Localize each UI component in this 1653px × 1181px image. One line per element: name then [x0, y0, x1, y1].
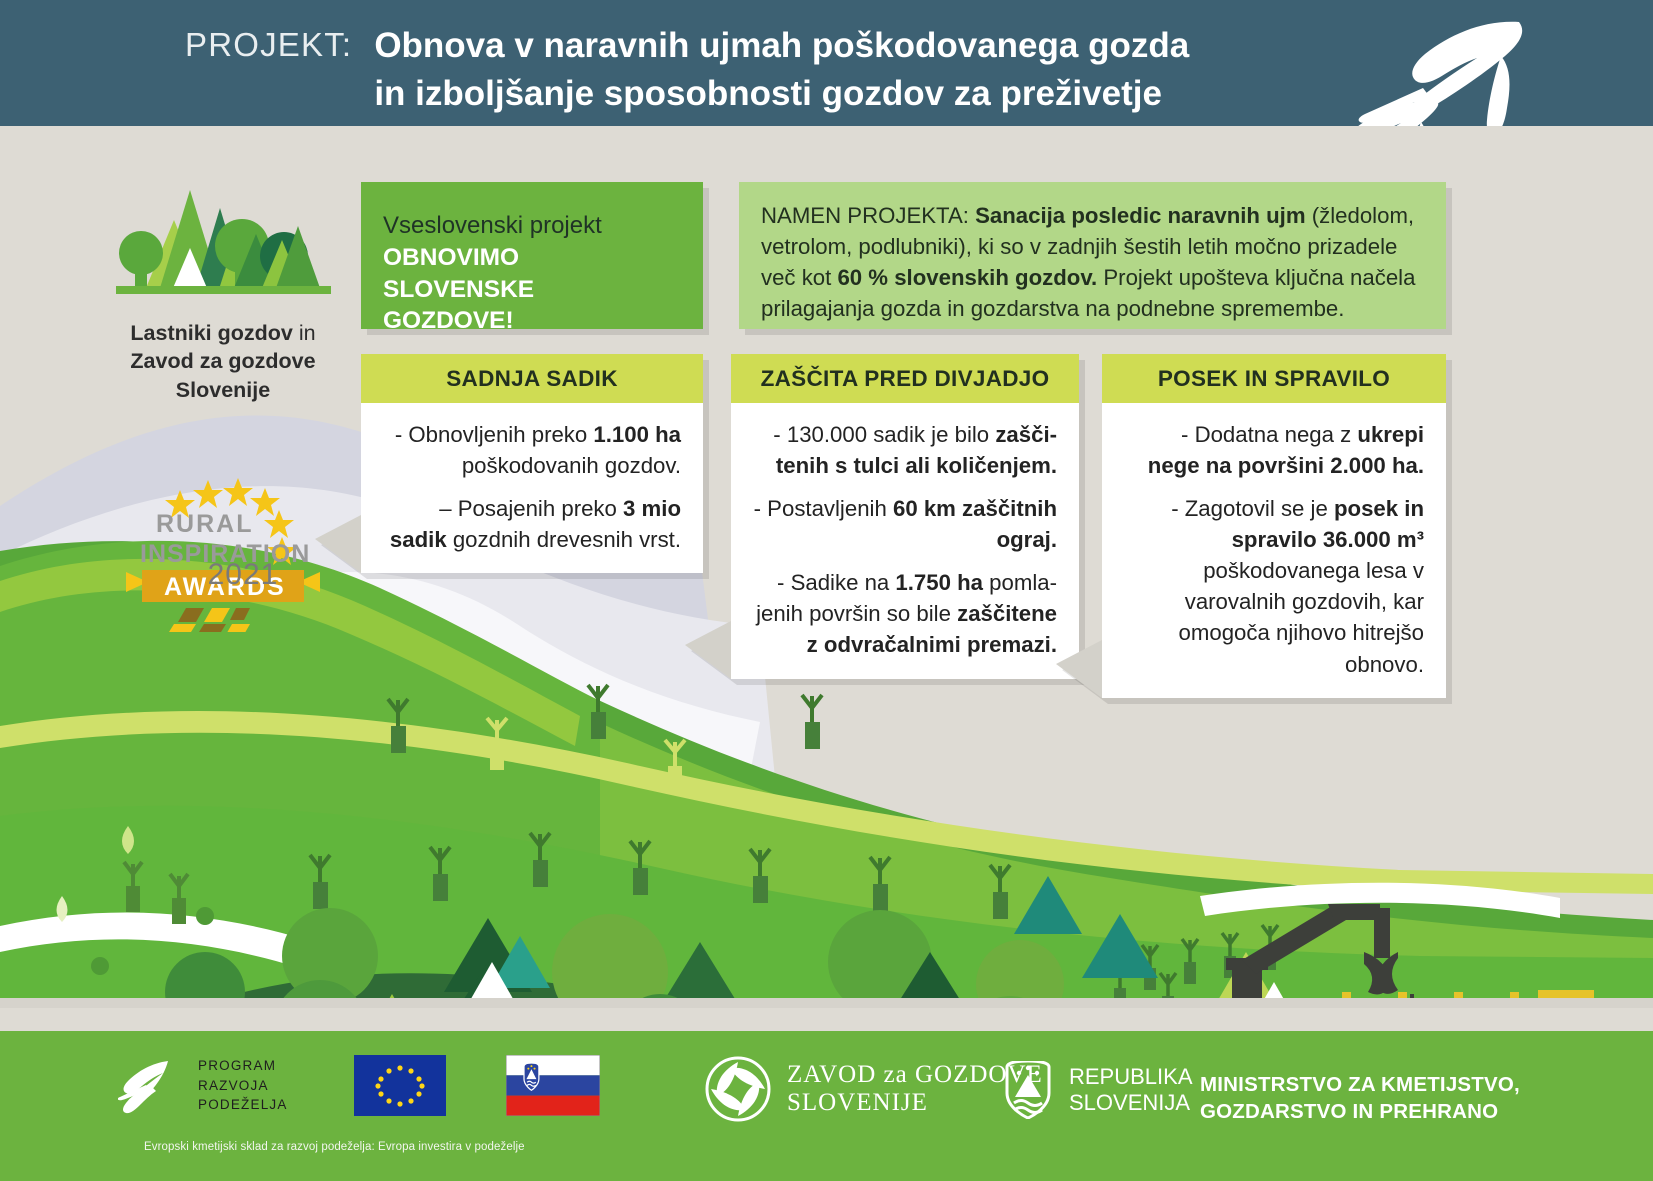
footer-bar: PROGRAM RAZVOJA PODEŽELJA	[0, 1031, 1653, 1181]
zgs-logo-block: ZAVOD za GOZDOVE SLOVENIJE	[705, 1056, 1043, 1122]
purpose-prefix: NAMEN PROJEKTA:	[761, 203, 975, 228]
callout-item: - Sadike na 1.750 ha pomla-jenih površin…	[753, 567, 1057, 660]
project-name-line2: OBNOVIMO SLOVENSKE	[383, 242, 677, 306]
item-pre: - Dodatna nega z	[1181, 422, 1357, 447]
infographic-page: PROJEKT: Obnova v naravnih ujmah poškodo…	[0, 0, 1653, 1181]
purpose-bold-1: Sanacija posledic naravnih ujm	[975, 203, 1305, 228]
owner-line2: Zavod za gozdove	[130, 349, 315, 373]
projekt-label: PROJEKT:	[185, 22, 352, 64]
callout-body: - 130.000 sadik je bilo zašči-tenih s tu…	[731, 403, 1079, 679]
callout-tail	[685, 621, 731, 679]
callout-item: - 130.000 sadik je bilo zašči-tenih s tu…	[753, 419, 1057, 481]
project-name-box: Vseslovenski projekt OBNOVIMO SLOVENSKE …	[361, 182, 703, 329]
prp-logo-block: PROGRAM RAZVOJA PODEŽELJA	[118, 1055, 600, 1116]
project-purpose-box: NAMEN PROJEKTA: Sanacija posledic naravn…	[739, 182, 1446, 329]
ministry-text: MINISTRSTVO ZA KMETIJSTVO, GOZDARSTVO IN…	[1200, 1071, 1520, 1125]
item-bold: 60 km zaščitnih ograj.	[893, 496, 1057, 552]
callout-item: - Obnovljenih preko 1.100 ha poškodovani…	[383, 419, 681, 481]
owner-conj: in	[293, 321, 316, 345]
rs-line1: REPUBLIKA	[1069, 1064, 1193, 1090]
callout-sadnja-sadik: SADNJA SADIK - Obnovljenih preko 1.100 h…	[361, 354, 703, 573]
callout-tail	[1056, 640, 1102, 698]
swallows-icon	[1305, 4, 1535, 126]
page-title-line2: in izboljšanje sposobnosti gozdov za pre…	[374, 70, 1189, 118]
callout-title: SADNJA SADIK	[361, 354, 703, 403]
callout-zascita-pred-divjadjo: ZAŠČITA PRED DIVJADJO - 130.000 sadik je…	[731, 354, 1079, 679]
callout-item: - Zagotovil se je posek in spravilo 36.0…	[1124, 493, 1424, 679]
prp-text: PROGRAM RAZVOJA PODEŽELJA	[198, 1056, 288, 1115]
item-bold: 1.750 ha	[895, 570, 983, 595]
forest-trees-icon	[88, 168, 358, 303]
rs-line2: SLOVENIJA	[1069, 1090, 1193, 1116]
callout-item: – Posajenih preko 3 mio sadik gozdnih dr…	[383, 493, 681, 555]
callout-posek-in-spravilo: POSEK IN SPRAVILO - Dodatna nega z ukrep…	[1102, 354, 1446, 698]
eu-flag-icon	[354, 1055, 446, 1116]
callout-body: - Obnovljenih preko 1.100 ha poškodovani…	[361, 403, 703, 573]
prp-line1: PROGRAM	[198, 1056, 288, 1076]
slovenia-coat-of-arms-icon	[1005, 1061, 1051, 1119]
owner-text: Lastniki gozdov in Zavod za gozdove Slov…	[88, 319, 358, 404]
callout-tail	[315, 515, 361, 573]
eu-disclaimer: Evropski kmetijski sklad za razvoj podež…	[144, 1141, 525, 1153]
item-pre: - Zagotovil se je	[1171, 496, 1334, 521]
item-post: poškodovanega lesa v varovalnih gozdovih…	[1179, 558, 1424, 676]
callout-title: POSEK IN SPRAVILO	[1102, 354, 1446, 403]
item-bold: 1.100 ha	[593, 422, 681, 447]
item-pre: - Obnovljenih preko	[395, 422, 594, 447]
owner-line3: Slovenije	[176, 378, 270, 402]
purpose-bold-2: 60 % slovenskih gozdov.	[837, 265, 1097, 290]
ministry-line2: GOZDARSTVO IN PREHRANO	[1200, 1098, 1520, 1125]
prp-swallow-icon	[118, 1057, 170, 1115]
owner-bold: Lastniki gozdov	[130, 321, 292, 345]
slovenia-flag-icon	[506, 1055, 600, 1116]
callout-body: - Dodatna nega z ukrepi nege na površini…	[1102, 403, 1446, 698]
zgs-leaf-icon	[705, 1056, 771, 1122]
prp-line2: RAZVOJA	[198, 1076, 288, 1096]
header-bar: PROJEKT: Obnova v naravnih ujmah poškodo…	[0, 0, 1653, 126]
prp-line3: PODEŽELJA	[198, 1095, 288, 1115]
svg-text:RURAL: RURAL	[156, 510, 254, 538]
rs-text: REPUBLIKA SLOVENIJA	[1069, 1064, 1193, 1116]
item-pre: – Posajenih preko	[439, 496, 623, 521]
project-name-line1: Vseslovenski projekt	[383, 210, 677, 242]
project-name-line3: GOZDOVE!	[383, 305, 677, 337]
page-title-line1: Obnova v naravnih ujmah poškodovanega go…	[374, 22, 1189, 70]
ministry-line1: MINISTRSTVO ZA KMETIJSTVO,	[1200, 1071, 1520, 1098]
callout-item: - Dodatna nega z ukrepi nege na površini…	[1124, 419, 1424, 481]
republic-slovenia-block: REPUBLIKA SLOVENIJA	[1005, 1061, 1193, 1119]
callout-item: - Postavljenih 60 km zaščitnih ograj.	[753, 493, 1057, 555]
item-pre: - Postavljenih	[754, 496, 893, 521]
item-post: poškodovanih gozdov.	[462, 453, 681, 478]
item-post: gozdnih drevesnih vrst.	[447, 527, 681, 552]
item-pre: - 130.000 sadik je bilo	[773, 422, 995, 447]
item-pre: - Sadike na	[777, 570, 895, 595]
callout-title: ZAŠČITA PRED DIVJADJO	[731, 354, 1079, 403]
